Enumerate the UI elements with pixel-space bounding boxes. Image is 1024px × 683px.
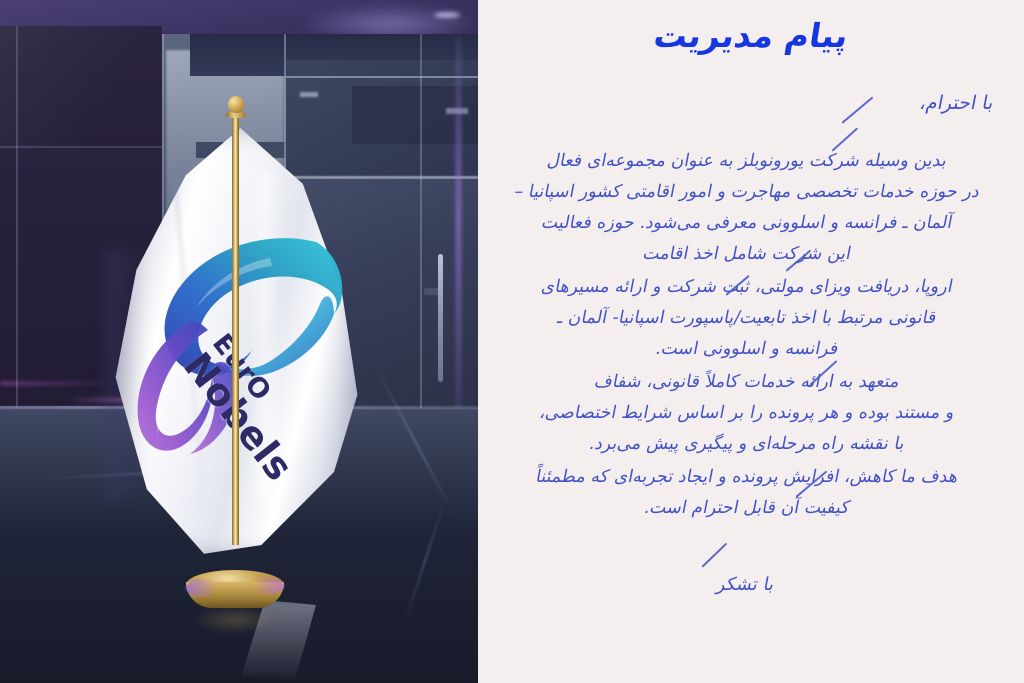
magenta-accent-light-2: [0, 382, 120, 385]
pen-flourish-1: [841, 96, 873, 123]
body-line: آلمان ـ فرانسه و اسلوونی معرفی می‌شود. ح…: [493, 208, 1001, 239]
body-line: این شرکت شامل اخذ اقامت: [493, 239, 1001, 270]
body-line: هدف ما کاهش، افزایش پرونده و ایجاد تجربه…: [493, 462, 1001, 493]
wall-seam-vertical: [16, 26, 18, 408]
page-title: پیام مدیریت: [475, 16, 1024, 55]
closing-text: با تشکر: [715, 574, 776, 595]
violet-light-edge: [456, 36, 461, 420]
glass-mullion-right: [420, 34, 422, 420]
body-line: فرانسه و اسلوونی است.: [493, 334, 1001, 365]
recessed-light-icon: [300, 92, 318, 97]
flag-pole-finial: [228, 96, 244, 113]
glass-rail-top: [286, 76, 478, 78]
body-line: بدین وسیله شرکت یورونوبلز به عنوان مجموع…: [493, 146, 1001, 177]
body-line: و مستند بوده و هر پرونده را بر اساس شرای…: [493, 398, 1001, 429]
glass-rail-mid: [288, 176, 478, 179]
ceiling-spotlight-icon: [434, 12, 460, 18]
base-violet-glow-right: [254, 578, 284, 594]
body-line: متعهد به ارائه خدمات کاملاً قانونی، شفاف: [493, 367, 1001, 398]
glass-door-handle: [438, 254, 443, 382]
flag-pole-shaft: [232, 117, 239, 545]
body-line: قانونی مرتبط با اخذ تابعیت/پاسپورت اسپان…: [493, 303, 1001, 334]
slide-canvas: EurO Nobels پیام مدیریت با احترام، بدین …: [0, 0, 1024, 683]
body-line: با نقشه راه مرحله‌ای و پیگیری پیش می‌برد…: [493, 429, 1001, 460]
flag-photo-panel: EurO Nobels: [0, 0, 478, 683]
body-line: در حوزه خدمات تخصصی مهاجرت و امور اقامتی…: [493, 177, 1001, 208]
letter-body: بدین وسیله شرکت یورونوبلز به عنوان مجموع…: [496, 146, 998, 524]
body-line: کیفیت آن قابل احترام است.: [493, 493, 1001, 524]
pen-flourish-7: [701, 543, 727, 568]
wall-seam-horizontal: [0, 146, 162, 148]
salutation-text: با احترام،: [918, 92, 996, 114]
base-violet-glow-left: [186, 580, 216, 596]
base-reflection: [192, 606, 278, 634]
management-message-panel: پیام مدیریت با احترام، بدین وسیله شرکت ی…: [478, 0, 1024, 683]
